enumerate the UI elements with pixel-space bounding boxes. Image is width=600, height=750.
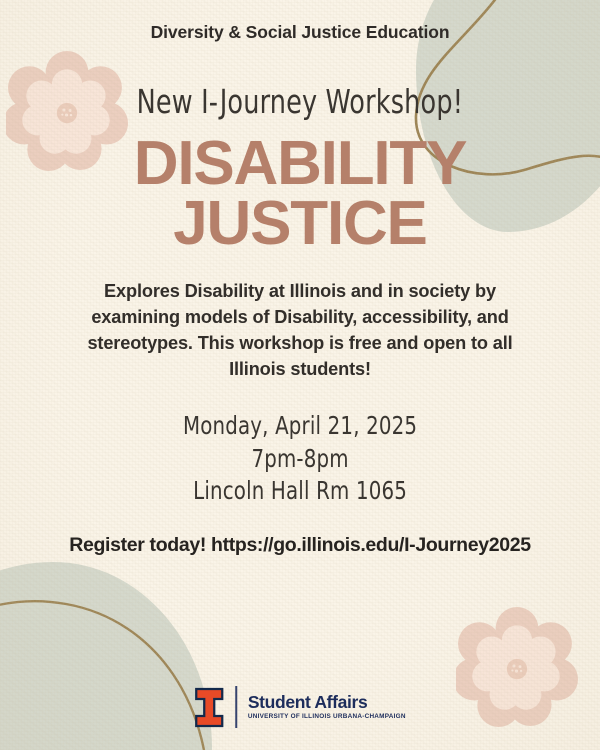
student-affairs-logo: Student Affairs UNIVERSITY OF ILLINOIS U…	[194, 686, 406, 728]
logo-subtitle: UNIVERSITY OF ILLINOIS URBANA-CHAMPAIGN	[248, 714, 406, 720]
page-title-line-1: DISABILITY	[134, 129, 466, 198]
program-name: Diversity & Social Justice Education	[151, 22, 450, 43]
poster-canvas: Diversity & Social Justice Education New…	[0, 0, 600, 750]
logo-title: Student Affairs	[248, 693, 406, 711]
event-location: Lincoln Hall Rm 1065	[183, 475, 417, 508]
registration-link[interactable]: Register today! https://go.illinois.edu/…	[69, 534, 530, 557]
poster-content: Diversity & Social Justice Education New…	[0, 0, 600, 750]
logo-wordmark: Student Affairs UNIVERSITY OF ILLINOIS U…	[248, 693, 406, 721]
page-title: DISABILITY JUSTICE	[134, 134, 466, 253]
page-title-line-2: JUSTICE	[134, 194, 466, 254]
workshop-subtitle: New I-Journey Workshop!	[137, 85, 464, 118]
logo-divider	[235, 686, 237, 728]
event-details: Monday, April 21, 2025 7pm-8pm Lincoln H…	[167, 410, 433, 508]
illinois-block-i-icon	[194, 687, 224, 728]
event-time: 7pm-8pm	[183, 443, 417, 476]
event-date: Monday, April 21, 2025	[183, 410, 417, 443]
workshop-description: Explores Disability at Illinois and in s…	[61, 279, 539, 382]
